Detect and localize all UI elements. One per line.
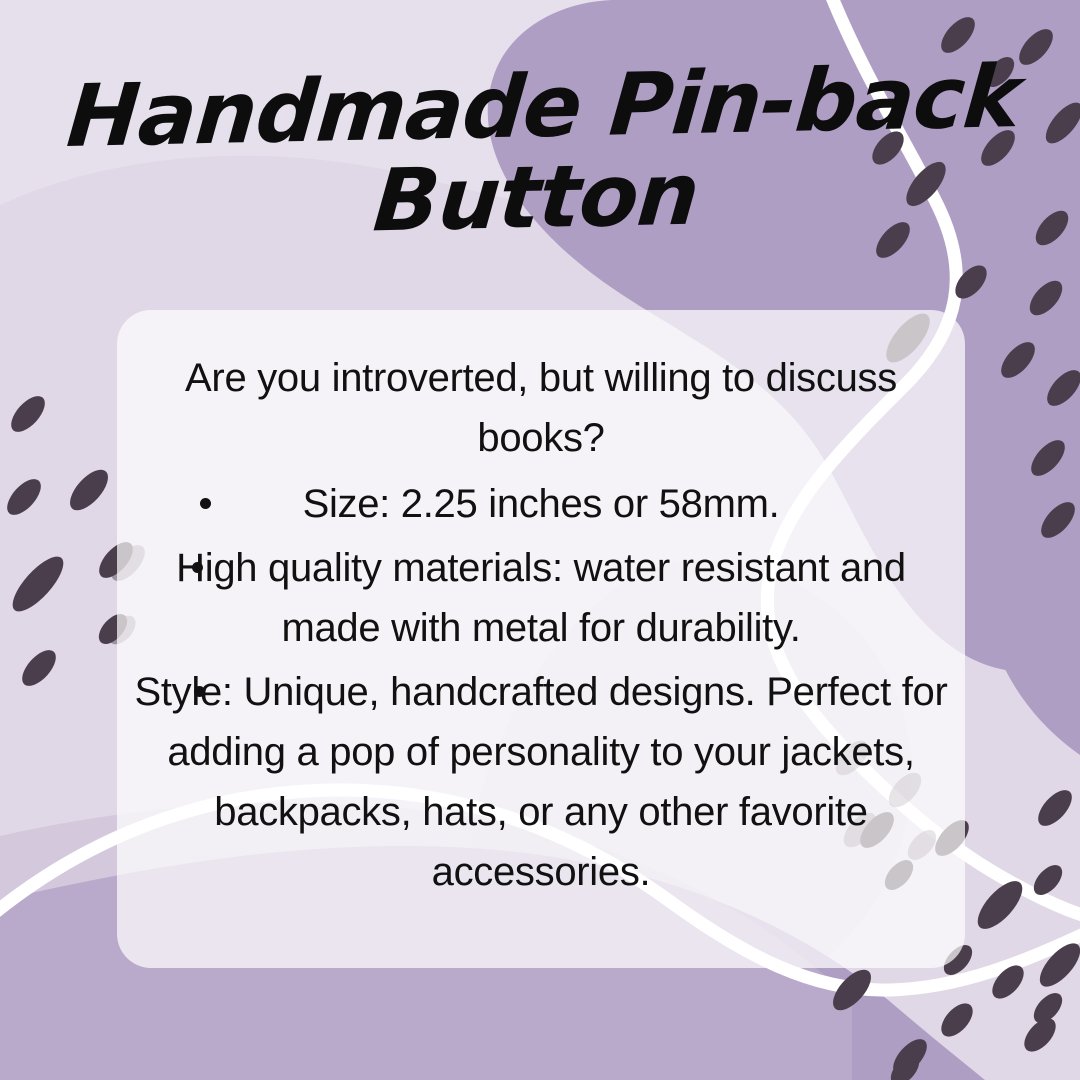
bullet-icon xyxy=(192,562,203,573)
lead-question: Are you introverted, but willing to disc… xyxy=(132,348,950,468)
list-item: Size: 2.25 inches or 58mm. xyxy=(132,474,950,534)
bullet-icon xyxy=(200,498,211,509)
product-graphic-canvas: Handmade Pin-back Button Are you introve… xyxy=(0,0,1080,1080)
list-item-label: Size: 2.25 inches or 58mm. xyxy=(303,482,780,526)
bullet-icon xyxy=(194,686,205,697)
feature-list: Size: 2.25 inches or 58mm. High quality … xyxy=(132,474,950,902)
list-item: Style: Unique, handcrafted designs. Perf… xyxy=(132,662,950,902)
list-item-label: Style: Unique, handcrafted designs. Perf… xyxy=(134,670,947,894)
page-title: Handmade Pin-back Button xyxy=(0,51,1080,256)
list-item-label: High quality materials: water resistant … xyxy=(176,546,906,650)
list-item: High quality materials: water resistant … xyxy=(132,538,950,658)
description-block: Are you introverted, but willing to disc… xyxy=(132,348,950,906)
title-block: Handmade Pin-back Button xyxy=(0,62,1080,244)
